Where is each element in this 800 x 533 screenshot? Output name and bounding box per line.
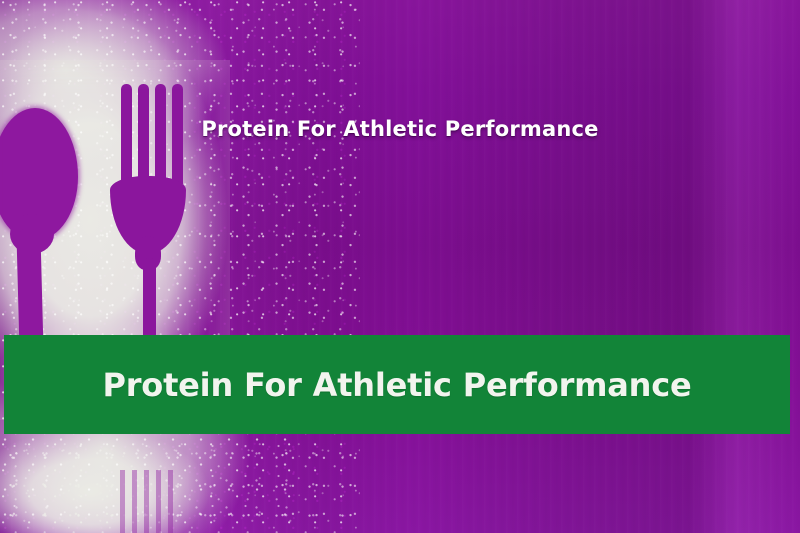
banner-image: Protein For Athletic Performance Protein… bbox=[0, 0, 800, 533]
overlay-title: Protein For Athletic Performance bbox=[0, 117, 800, 141]
banner-heading: Protein For Athletic Performance bbox=[102, 366, 691, 404]
green-heading-banner: Protein For Athletic Performance bbox=[4, 335, 790, 434]
lower-fork-tine-shadow bbox=[120, 470, 180, 533]
